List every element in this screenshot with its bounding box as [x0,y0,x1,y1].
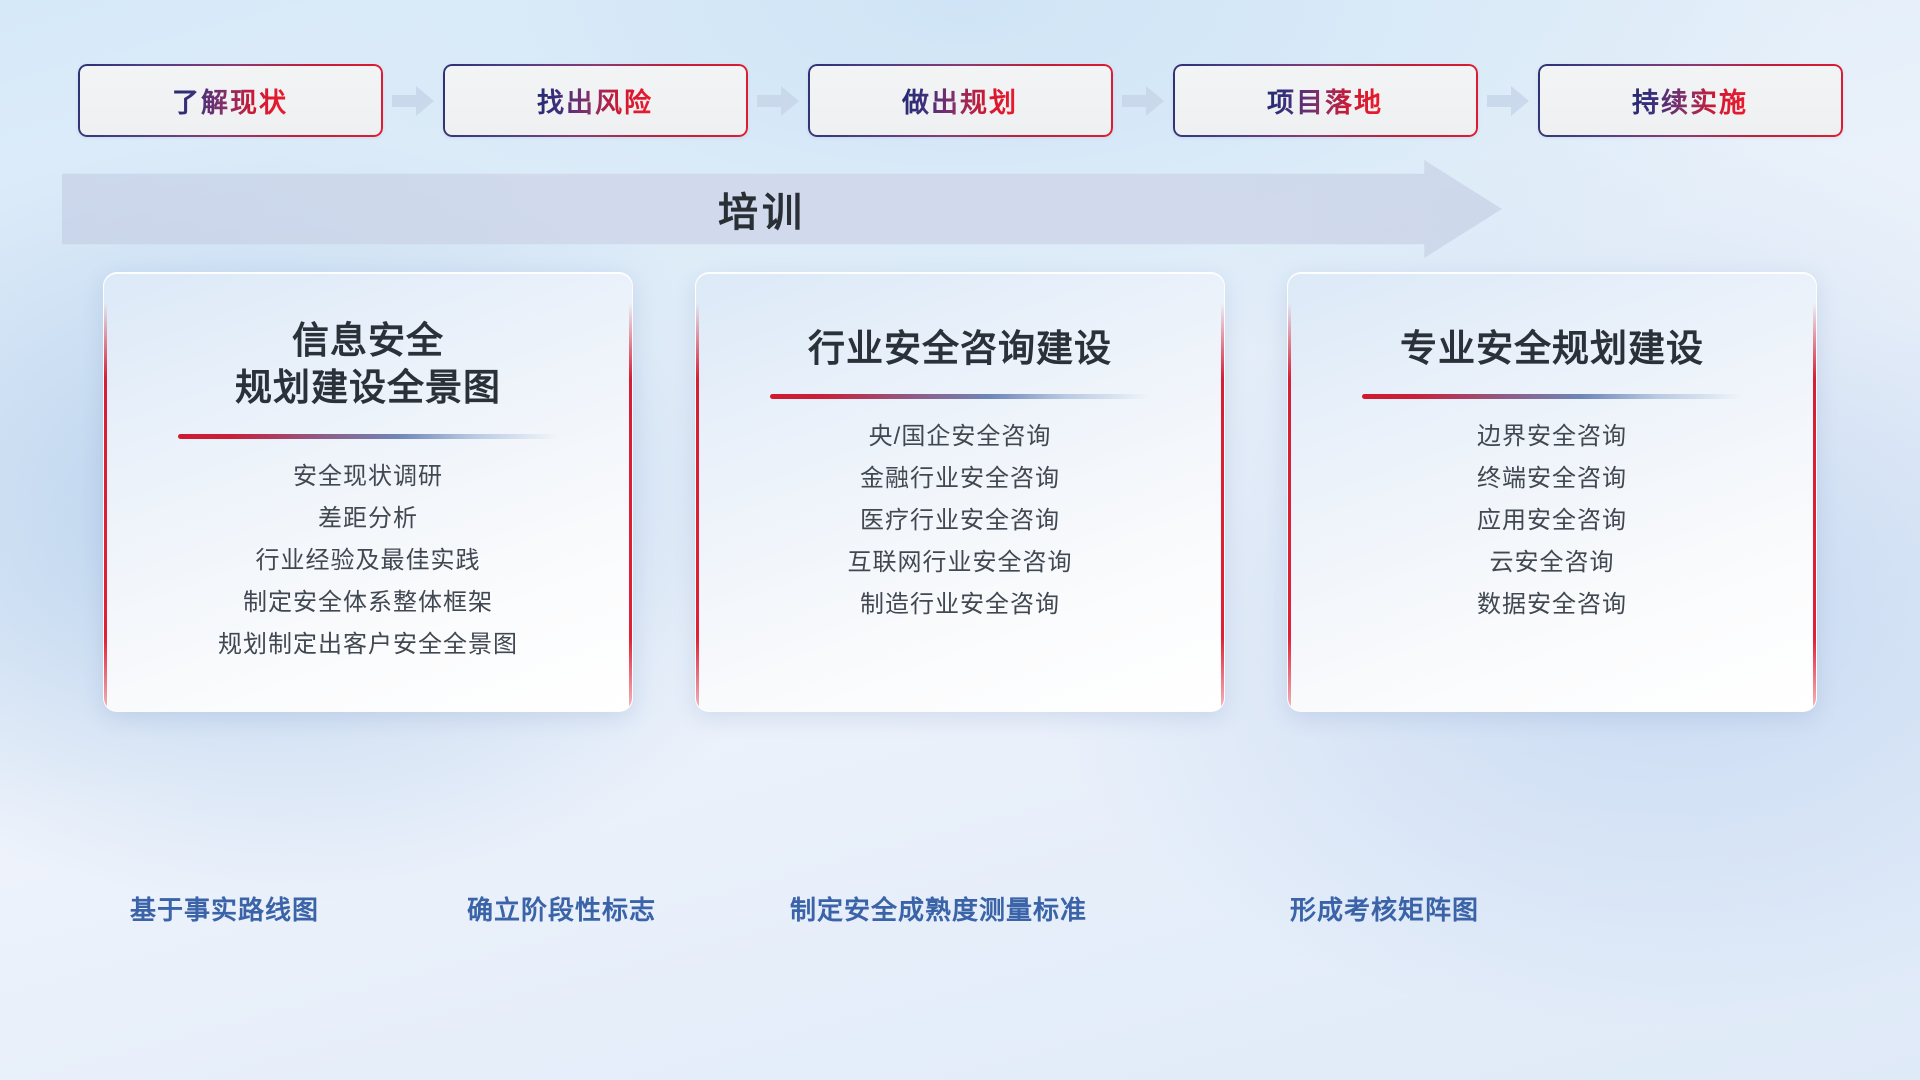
list-item: 制定安全体系整体框架 [218,591,518,615]
right-arrow-icon [1113,64,1173,137]
card-accent-left [104,303,107,712]
right-arrow-icon [1478,64,1538,137]
right-arrow-icon [383,64,443,137]
list-item: 边界安全咨询 [1477,425,1627,449]
card-item-list: 央/国企安全咨询 金融行业安全咨询 医疗行业安全咨询 互联网行业安全咨询 制造行… [848,425,1073,617]
card-divider [1362,394,1742,399]
caption-label: 确立阶段性标志 [467,890,656,927]
list-item: 制造行业安全咨询 [848,593,1073,617]
card-accent-right [629,303,632,712]
caption-label: 基于事实路线图 [130,890,319,927]
training-banner: 培训 [62,160,1502,258]
list-item: 应用安全咨询 [1477,509,1627,533]
card-divider [770,394,1150,399]
step-label: 做出规划 [902,81,1018,120]
banner-title: 培训 [62,160,1502,258]
right-arrow-icon [748,64,808,137]
list-item: 行业经验及最佳实践 [218,549,518,573]
card-accent-left [696,303,699,712]
card-divider [178,434,558,439]
service-card-1[interactable]: 信息安全 规划建设全景图 安全现状调研 差距分析 行业经验及最佳实践 制定安全体… [103,272,633,712]
card-item-list: 安全现状调研 差距分析 行业经验及最佳实践 制定安全体系整体框架 规划制定出客户… [218,465,518,657]
step-label: 项目落地 [1267,81,1383,120]
list-item: 差距分析 [218,507,518,531]
card-accent-right [1221,303,1224,712]
list-item: 终端安全咨询 [1477,467,1627,491]
service-card-2[interactable]: 行业安全咨询建设 央/国企安全咨询 金融行业安全咨询 医疗行业安全咨询 互联网行… [695,272,1225,712]
card-title: 行业安全咨询建设 [808,325,1112,372]
caption-row: 基于事实路线图 确立阶段性标志 制定安全成熟度测量标准 形成考核矩阵图 [0,890,1920,950]
step-label: 找出风险 [537,81,653,120]
caption-label: 制定安全成熟度测量标准 [790,890,1087,927]
card-title: 信息安全 规划建设全景图 [235,317,501,412]
card-accent-left [1288,303,1291,712]
step-label: 持续实施 [1632,81,1748,120]
step-card-5[interactable]: 持续实施 [1538,64,1843,137]
step-card-4[interactable]: 项目落地 [1173,64,1478,137]
list-item: 云安全咨询 [1477,551,1627,575]
card-title: 专业安全规划建设 [1400,325,1704,372]
list-item: 规划制定出客户安全全景图 [218,633,518,657]
list-item: 互联网行业安全咨询 [848,551,1073,575]
step-card-1[interactable]: 了解现状 [78,64,383,137]
step-label: 了解现状 [172,81,288,120]
list-item: 金融行业安全咨询 [848,467,1073,491]
step-card-3[interactable]: 做出规划 [808,64,1113,137]
caption-label: 形成考核矩阵图 [1290,890,1479,927]
list-item: 数据安全咨询 [1477,593,1627,617]
process-step-row: 了解现状 找出风险 做出规划 项目落地 持续实施 [0,63,1920,138]
service-card-row: 信息安全 规划建设全景图 安全现状调研 差距分析 行业经验及最佳实践 制定安全体… [0,272,1920,722]
list-item: 安全现状调研 [218,465,518,489]
card-accent-right [1813,303,1816,712]
list-item: 央/国企安全咨询 [848,425,1073,449]
service-card-3[interactable]: 专业安全规划建设 边界安全咨询 终端安全咨询 应用安全咨询 云安全咨询 数据安全… [1287,272,1817,712]
list-item: 医疗行业安全咨询 [848,509,1073,533]
step-card-2[interactable]: 找出风险 [443,64,748,137]
card-item-list: 边界安全咨询 终端安全咨询 应用安全咨询 云安全咨询 数据安全咨询 [1477,425,1627,617]
